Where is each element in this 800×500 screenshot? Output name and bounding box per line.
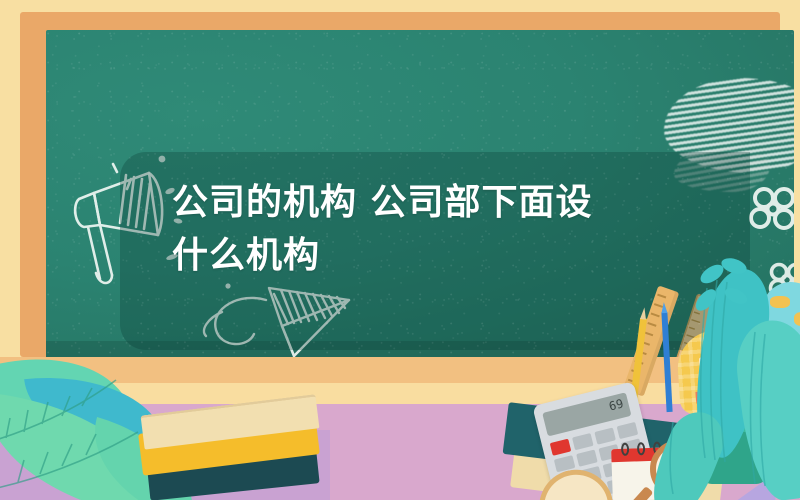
calculator-key: [617, 422, 639, 439]
page-title: 公司的机构 公司部下面设什么机构: [172, 176, 642, 282]
calculator-display-value: 69: [608, 396, 625, 413]
page-title-line-1: 公司的机构 公司部下面设: [172, 182, 593, 223]
calculator-key: [550, 439, 572, 456]
page-title-line-2: 什么机构: [172, 235, 320, 276]
calculator-key: [572, 433, 594, 450]
flower-icon: [746, 182, 794, 238]
calculator-key: [594, 427, 616, 444]
calculator-key: [576, 450, 598, 467]
chalk-smear-grey: [674, 148, 770, 192]
small-leaf-cluster-icon: [690, 256, 800, 376]
chalk-smear: [664, 78, 794, 173]
banner-image: 公司的机构 公司部下面设什么机构 Flow Samples: [0, 0, 800, 500]
